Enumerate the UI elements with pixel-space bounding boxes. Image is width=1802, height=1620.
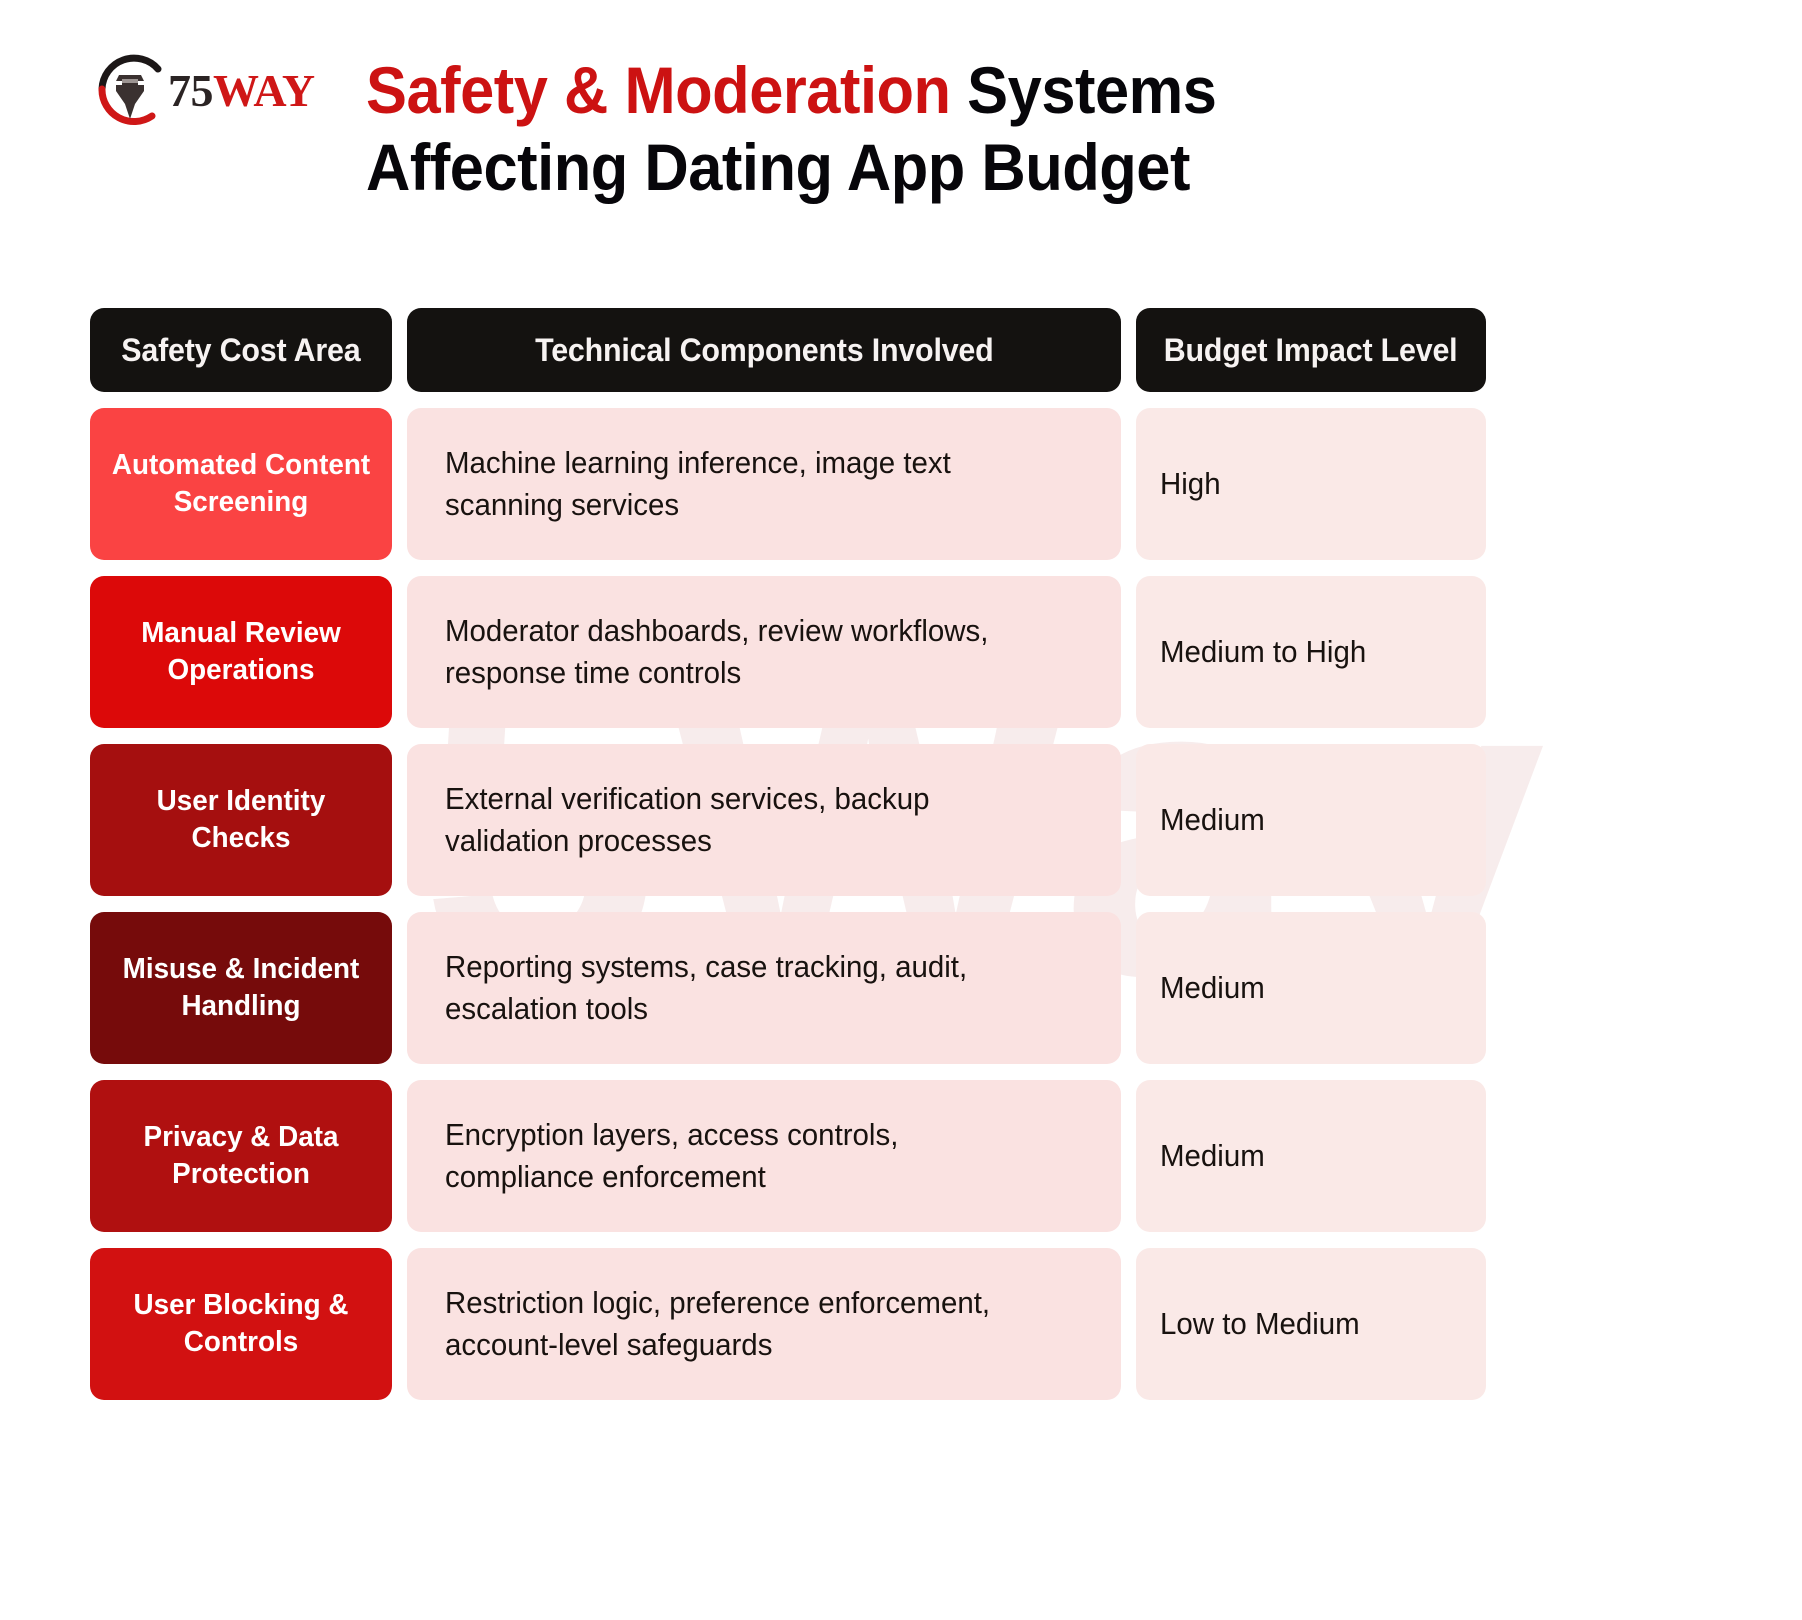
row-area-label: Misuse & Incident Handling [90,912,392,1064]
table-row: Privacy & Data Protection Encryption lay… [90,1080,1486,1232]
row-components-text: Moderator dashboards, review workflows, … [407,576,1121,728]
row-impact-text: Medium [1136,744,1486,896]
table-row: Manual Review Operations Moderator dashb… [90,576,1486,728]
title-accent-text: Safety & Moderation [366,53,951,127]
title-rest-text: Systems [951,53,1217,127]
row-impact-text: Low to Medium [1136,1248,1486,1400]
row-impact-text: Medium to High [1136,576,1486,728]
brand-wordmark: 75WAY [168,68,315,114]
table-header-row: Safety Cost Area Technical Components In… [90,308,1486,392]
row-components-text: External verification services, backup v… [407,744,1121,896]
row-impact-text: Medium [1136,1080,1486,1232]
table-row: User Blocking & Controls Restriction log… [90,1248,1486,1400]
row-components-text: Reporting systems, case tracking, audit,… [407,912,1121,1064]
brand-logo: 75WAY [88,48,315,134]
column-header-budget-impact: Budget Impact Level [1136,308,1486,392]
title-line-2: Affecting Dating App Budget [366,129,1482,206]
row-components-text: Restriction logic, preference enforcemen… [407,1248,1121,1400]
page-header: 75WAY Safety & Moderation Systems Affect… [0,0,1802,250]
table-row: Misuse & Incident Handling Reporting sys… [90,912,1486,1064]
safety-cost-table: Safety Cost Area Technical Components In… [90,308,1486,1400]
75way-circle-logo-icon [88,49,172,133]
row-impact-text: High [1136,408,1486,560]
column-header-technical-components: Technical Components Involved [407,308,1121,392]
page-title: Safety & Moderation Systems Affecting Da… [366,52,1566,206]
row-area-label: Manual Review Operations [90,576,392,728]
row-area-label: Automated Content Screening [90,408,392,560]
table-row: User Identity Checks External verificati… [90,744,1486,896]
row-components-text: Encryption layers, access controls, comp… [407,1080,1121,1232]
row-area-label: User Identity Checks [90,744,392,896]
brand-name-first: 75 [168,65,213,116]
row-area-label: Privacy & Data Protection [90,1080,392,1232]
row-area-label: User Blocking & Controls [90,1248,392,1400]
row-impact-text: Medium [1136,912,1486,1064]
title-line-1: Safety & Moderation Systems [366,52,1482,129]
brand-name-second: WAY [213,65,315,116]
table-row: Automated Content Screening Machine lear… [90,408,1486,560]
column-header-safety-cost-area: Safety Cost Area [90,308,392,392]
row-components-text: Machine learning inference, image text s… [407,408,1121,560]
